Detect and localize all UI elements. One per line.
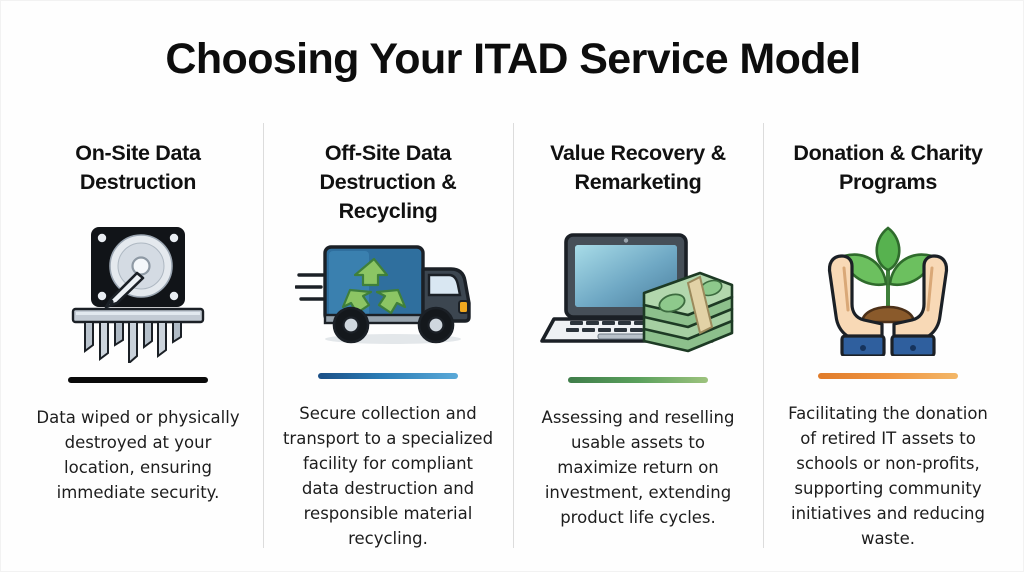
column-heading: Off-Site Data Destruction & Recycling	[273, 121, 503, 215]
accent-bar	[818, 373, 958, 379]
column-description: Facilitating the donation of retired IT …	[782, 401, 994, 551]
recycling-truck-icon	[273, 215, 503, 367]
column-heading: Value Recovery & Remarketing	[523, 121, 753, 215]
column-description: Assessing and reselling usable assets to…	[532, 405, 744, 530]
service-model-columns: On-Site Data Destruction	[13, 121, 1013, 551]
accent-bar	[68, 377, 208, 383]
laptop-cash-icon	[523, 215, 753, 371]
column-description: Secure collection and transport to a spe…	[282, 401, 494, 551]
hands-holding-plant-icon	[773, 214, 1003, 367]
column-heading: Donation & Charity Programs	[773, 121, 1003, 214]
column-value-recovery-remarketing: Value Recovery & Remarketing	[513, 121, 763, 551]
accent-bar	[568, 377, 708, 383]
itad-service-model-infographic: Choosing Your ITAD Service Model On-Site…	[0, 0, 1024, 572]
column-donation-charity-programs: Donation & Charity Programs	[763, 121, 1013, 551]
column-on-site-data-destruction: On-Site Data Destruction	[13, 121, 263, 551]
column-heading: On-Site Data Destruction	[23, 121, 253, 215]
column-description: Data wiped or physically destroyed at yo…	[32, 405, 244, 505]
column-off-site-data-destruction-recycling: Off-Site Data Destruction & Recycling	[263, 121, 513, 551]
hard-drive-shredder-icon	[23, 215, 253, 371]
accent-bar	[318, 373, 458, 379]
page-title: Choosing Your ITAD Service Model	[1, 35, 1024, 84]
